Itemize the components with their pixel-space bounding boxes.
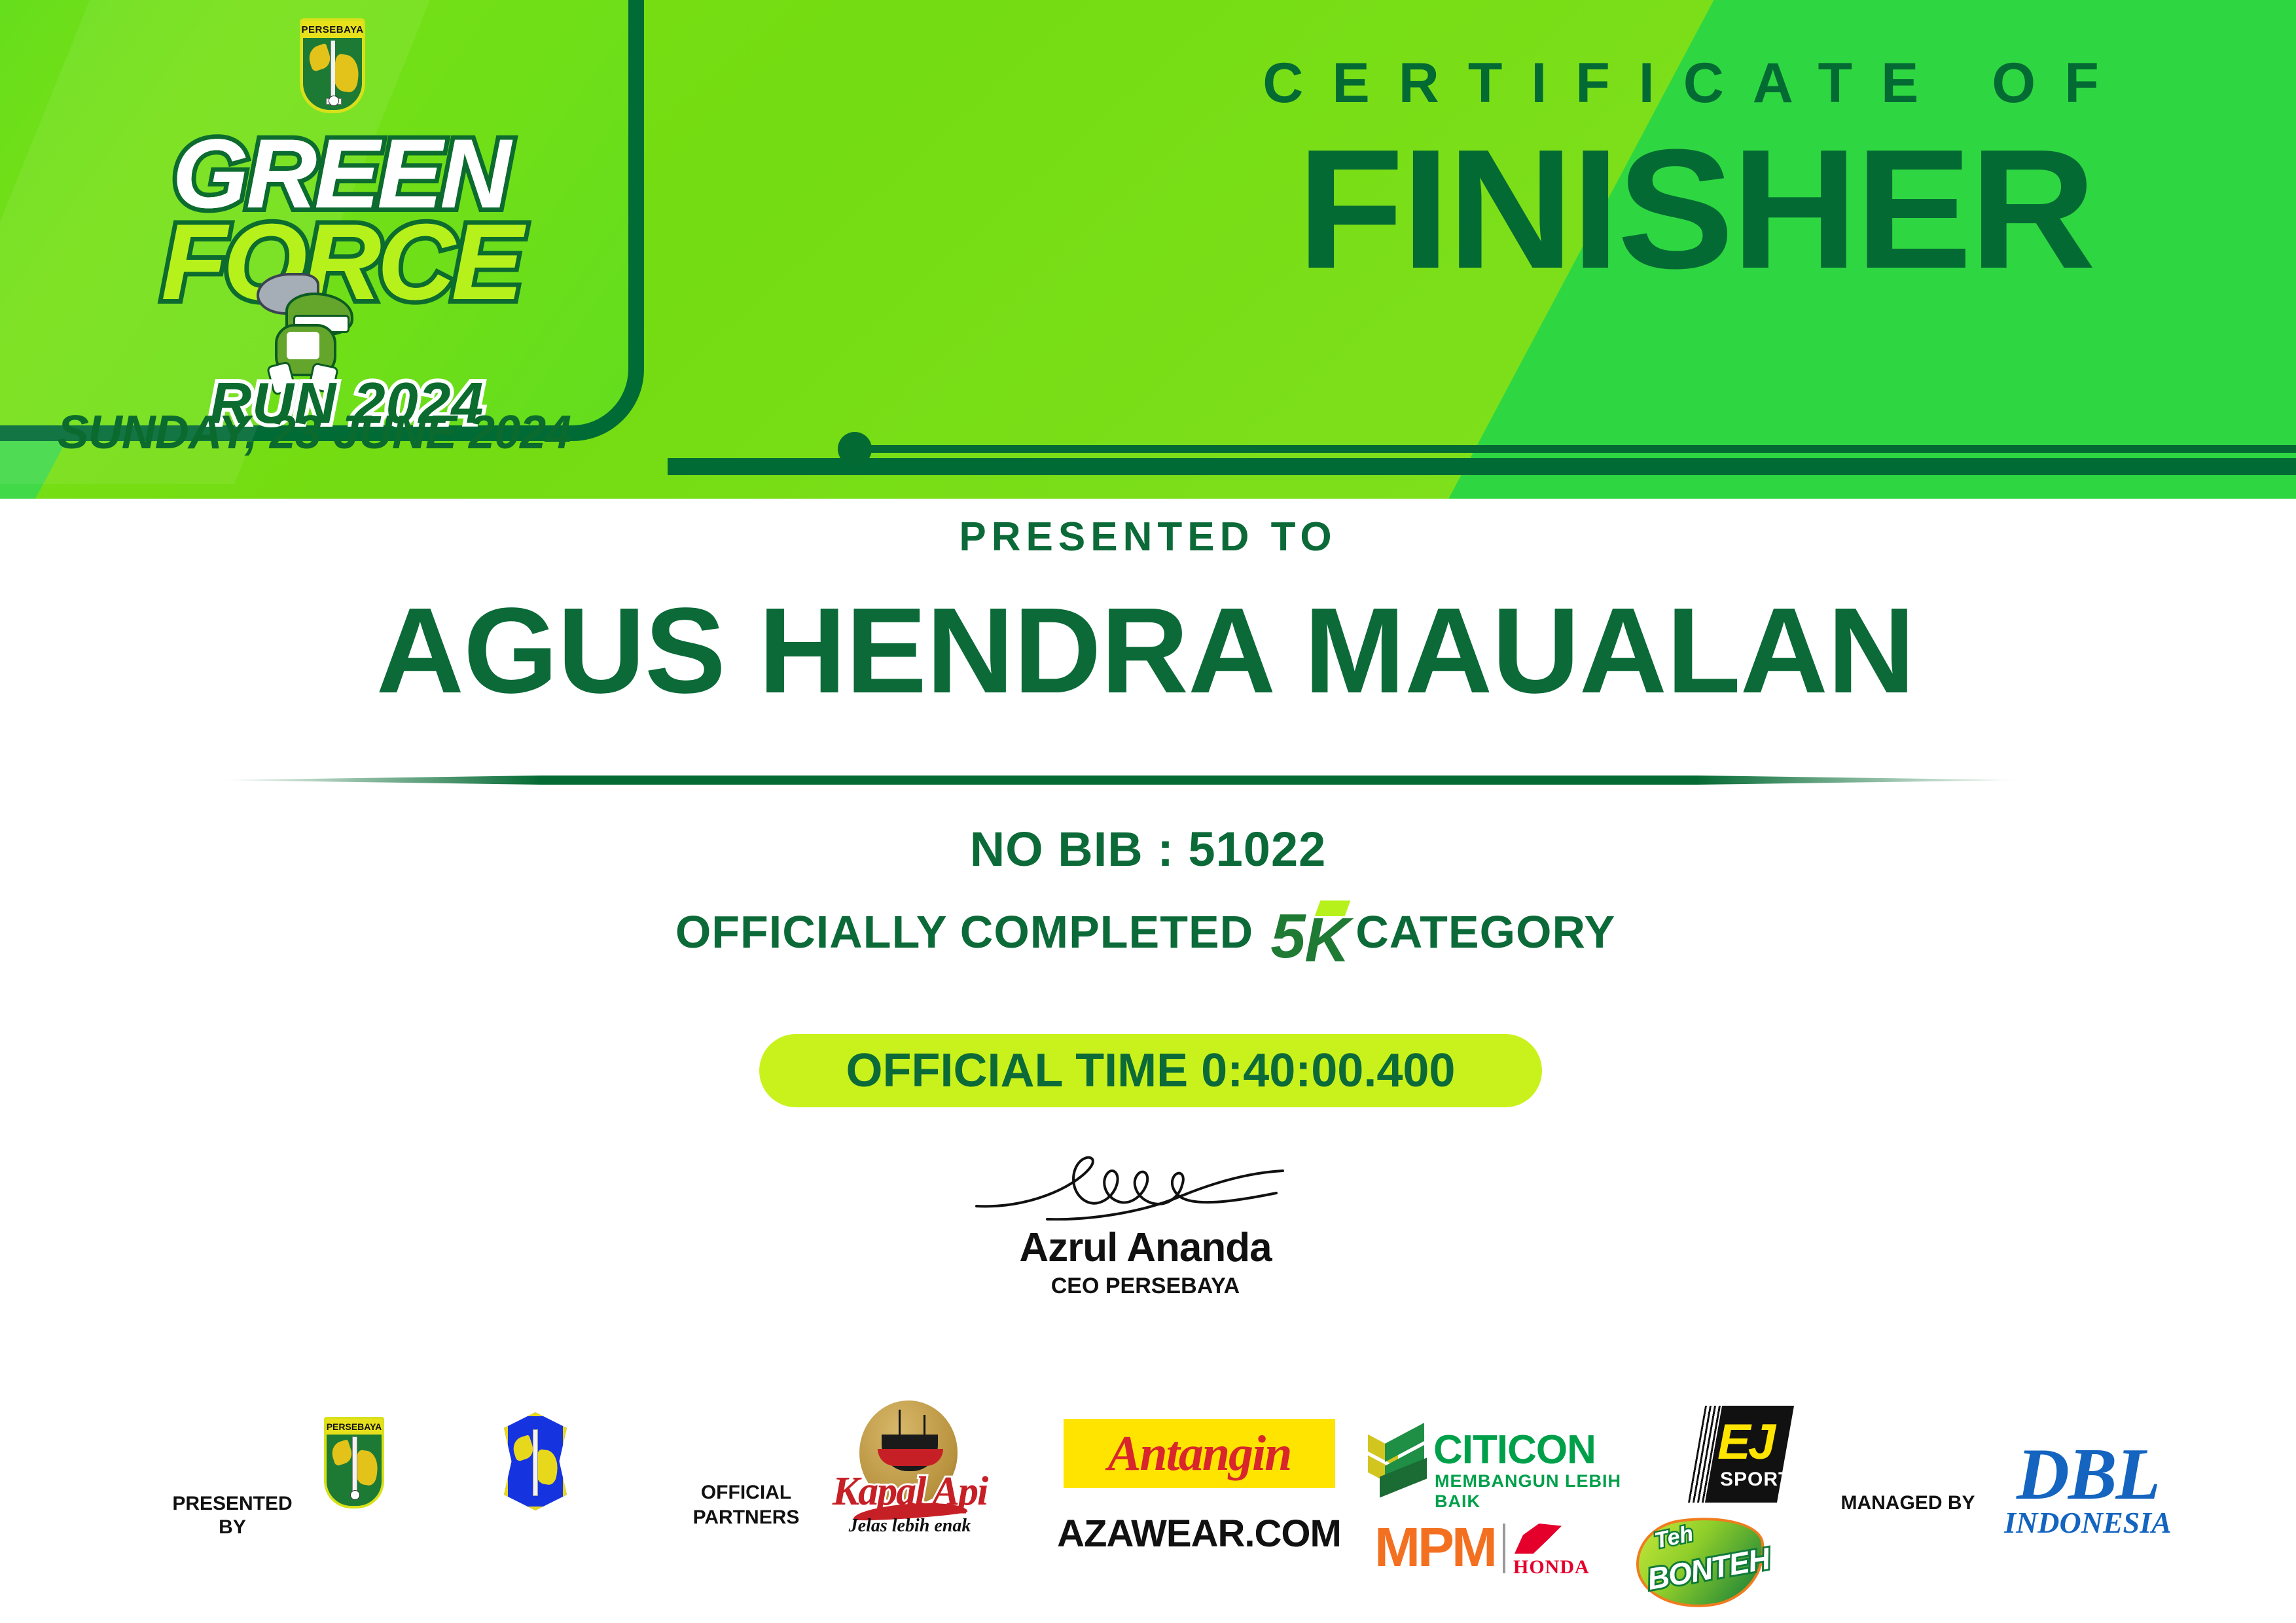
presented-by-label: PRESENTED BY — [157, 1492, 308, 1539]
crest-name-text: PERSEBAYA — [301, 24, 363, 35]
category-badge-unit: K — [1304, 911, 1350, 970]
signature-mark-icon — [949, 1149, 1342, 1221]
official-partners-label: OFFICIAL PARTNERS — [681, 1480, 812, 1530]
sponsor-logo-citicon: CITICON MEMBANGUN LEBIH BAIK — [1368, 1420, 1643, 1499]
ej-wordmark: EJ — [1717, 1418, 1773, 1467]
honda-wordmark: HONDA — [1513, 1556, 1590, 1578]
persebaya-name-bar: PERSEBAYA — [326, 1419, 382, 1435]
ej-sub-label: SPORT — [1720, 1469, 1791, 1491]
citicon-cube-icon — [1368, 1432, 1428, 1487]
sponsor-logo-surabaya-city — [504, 1412, 567, 1510]
connector-line — [864, 445, 2296, 453]
citicon-wordmark: CITICON — [1433, 1427, 1596, 1473]
category-badge-number: 5 — [1270, 907, 1300, 966]
official-time-badge: OFFICIAL TIME 0:40:00.400 — [759, 1034, 1542, 1107]
citicon-tagline: MEMBANGUN LEBIH BAIK — [1435, 1471, 1643, 1512]
mpm-wordmark: MPM — [1374, 1520, 1495, 1575]
category-line: OFFICIALLY COMPLETED 5 K CATEGORY — [327, 897, 1964, 967]
mascot-shirt — [287, 332, 319, 359]
sponsor-logo-teh-bonteh: Teh Teh BONTEH BONTEH — [1636, 1517, 1761, 1602]
persebaya-football-icon — [350, 1490, 360, 1500]
official-time-text: OFFICIAL TIME 0:40:00.400 — [846, 1044, 1456, 1097]
surabaya-monument-icon — [533, 1429, 538, 1496]
dbl-wordmark: DBL — [2003, 1440, 2173, 1509]
honda-wing-icon — [1515, 1524, 1562, 1554]
managed-by-label: MANAGED BY — [1826, 1492, 1990, 1514]
event-date: SUNDAY, 23 JUNE 2024 — [39, 406, 589, 459]
sponsor-logo-mpm-honda: MPM HONDA — [1374, 1520, 1571, 1585]
mpm-divider — [1503, 1524, 1505, 1573]
sponsor-logo-antangin: Antangin — [1064, 1419, 1335, 1488]
antangin-wordmark: Antangin — [1108, 1425, 1291, 1482]
name-underline-divider — [216, 776, 2022, 785]
crest-football-icon — [329, 96, 339, 106]
persebaya-crest-icon: PERSEBAYA — [300, 18, 365, 113]
dbl-sub-label: INDONESIA — [2003, 1505, 2173, 1540]
signature-block: Azrul Ananda CEO PERSEBAYA — [949, 1149, 1342, 1299]
crest-monument-icon — [331, 41, 335, 101]
signatory-role: CEO PERSEBAYA — [949, 1274, 1342, 1299]
sponsor-logo-dbl-indonesia: DBL INDONESIA — [2003, 1440, 2173, 1538]
green-force-run-logo: GREEN GREEN FORCE FORCE RUN 2024 RUN 202… — [79, 124, 596, 399]
certificate-canvas: PERSEBAYA GREEN GREEN FORCE FORCE RUN 20… — [0, 0, 2296, 1623]
persebaya-monument-icon — [352, 1436, 357, 1497]
sponsor-logo-azawear: AZAWEAR.COM — [1055, 1512, 1343, 1556]
category-suffix-label: CATEGORY — [1355, 906, 1615, 958]
completed-prefix-label: OFFICIALLY COMPLETED — [675, 906, 1253, 958]
sponsor-logo-ej-sport: EJ SPORT — [1695, 1406, 1793, 1503]
persebaya-name-text: PERSEBAYA — [327, 1421, 382, 1432]
presented-to-label: PRESENTED TO — [493, 514, 1803, 560]
header-bottom-rule — [668, 458, 2296, 475]
sponsor-logo-kapal-api: Kapal Api Kapal Api Jelas lebih enak — [828, 1400, 992, 1531]
category-5k-badge-icon: 5 K — [1270, 897, 1338, 967]
certificate-of-label: CERTIFICATE OF — [1165, 51, 2225, 116]
kapal-api-hull — [878, 1449, 943, 1466]
official-partners-line-2: PARTNERS — [693, 1507, 800, 1528]
official-partners-line-1: OFFICIAL — [701, 1482, 791, 1503]
crest-name-bar: PERSEBAYA — [302, 21, 363, 38]
sponsor-logo-persebaya: PERSEBAYA — [324, 1417, 384, 1508]
kapal-api-tagline: Jelas lebih enak — [828, 1516, 992, 1537]
signatory-name: Azrul Ananda — [949, 1224, 1342, 1271]
recipient-name: AGUS HENDRA MAUALAN — [196, 589, 2094, 713]
certificate-title-finisher: FINISHER — [1136, 124, 2255, 294]
bib-number: NO BIB : 51022 — [493, 821, 1803, 877]
